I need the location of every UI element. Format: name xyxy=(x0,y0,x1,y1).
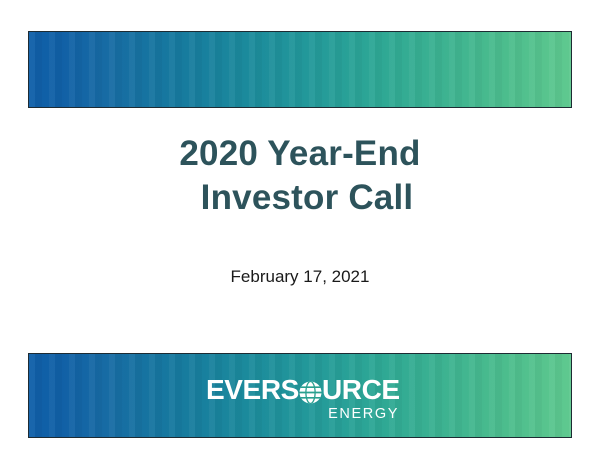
wordmark-text-left: EVERS xyxy=(206,375,299,405)
top-gradient-banner xyxy=(28,31,572,108)
eversource-globe-icon xyxy=(299,380,322,403)
logo-tagline: ENERGY xyxy=(206,406,401,422)
bottom-gradient-banner: EVERS xyxy=(28,353,572,438)
title-line-1: 2020 Year-End xyxy=(0,132,600,176)
slide-canvas: 2020 Year-End Investor Call February 17,… xyxy=(0,0,600,464)
slide-date: February 17, 2021 xyxy=(0,266,600,288)
eversource-wordmark: EVERS xyxy=(206,375,401,405)
wordmark-text-right: URCE xyxy=(322,375,400,405)
title-line-2: Investor Call xyxy=(0,176,600,220)
eversource-logo: EVERS xyxy=(29,354,571,437)
slide-title: 2020 Year-End Investor Call xyxy=(0,132,600,220)
